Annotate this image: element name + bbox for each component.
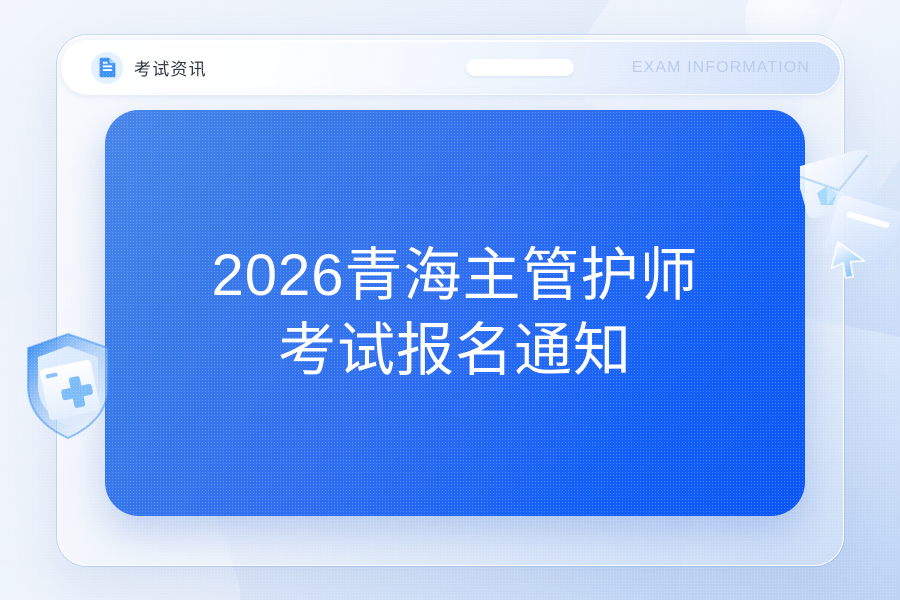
hero-title-line-2: 考试报名通知 bbox=[278, 313, 632, 388]
header-title-en: EXAM INFORMATION bbox=[632, 59, 810, 77]
document-icon bbox=[91, 52, 123, 84]
hero-title-line-1: 2026青海主管护师 bbox=[211, 238, 698, 313]
header-title-cn: 考试资讯 bbox=[134, 55, 207, 80]
hero-panel: 2026青海主管护师 考试报名通知 bbox=[105, 110, 805, 516]
header-notch bbox=[466, 59, 574, 76]
page-background: 考试资讯 EXAM INFORMATION 2026青海主管护师 考试报名通知 bbox=[0, 0, 900, 600]
header-bar: 考试资讯 EXAM INFORMATION bbox=[61, 40, 841, 95]
